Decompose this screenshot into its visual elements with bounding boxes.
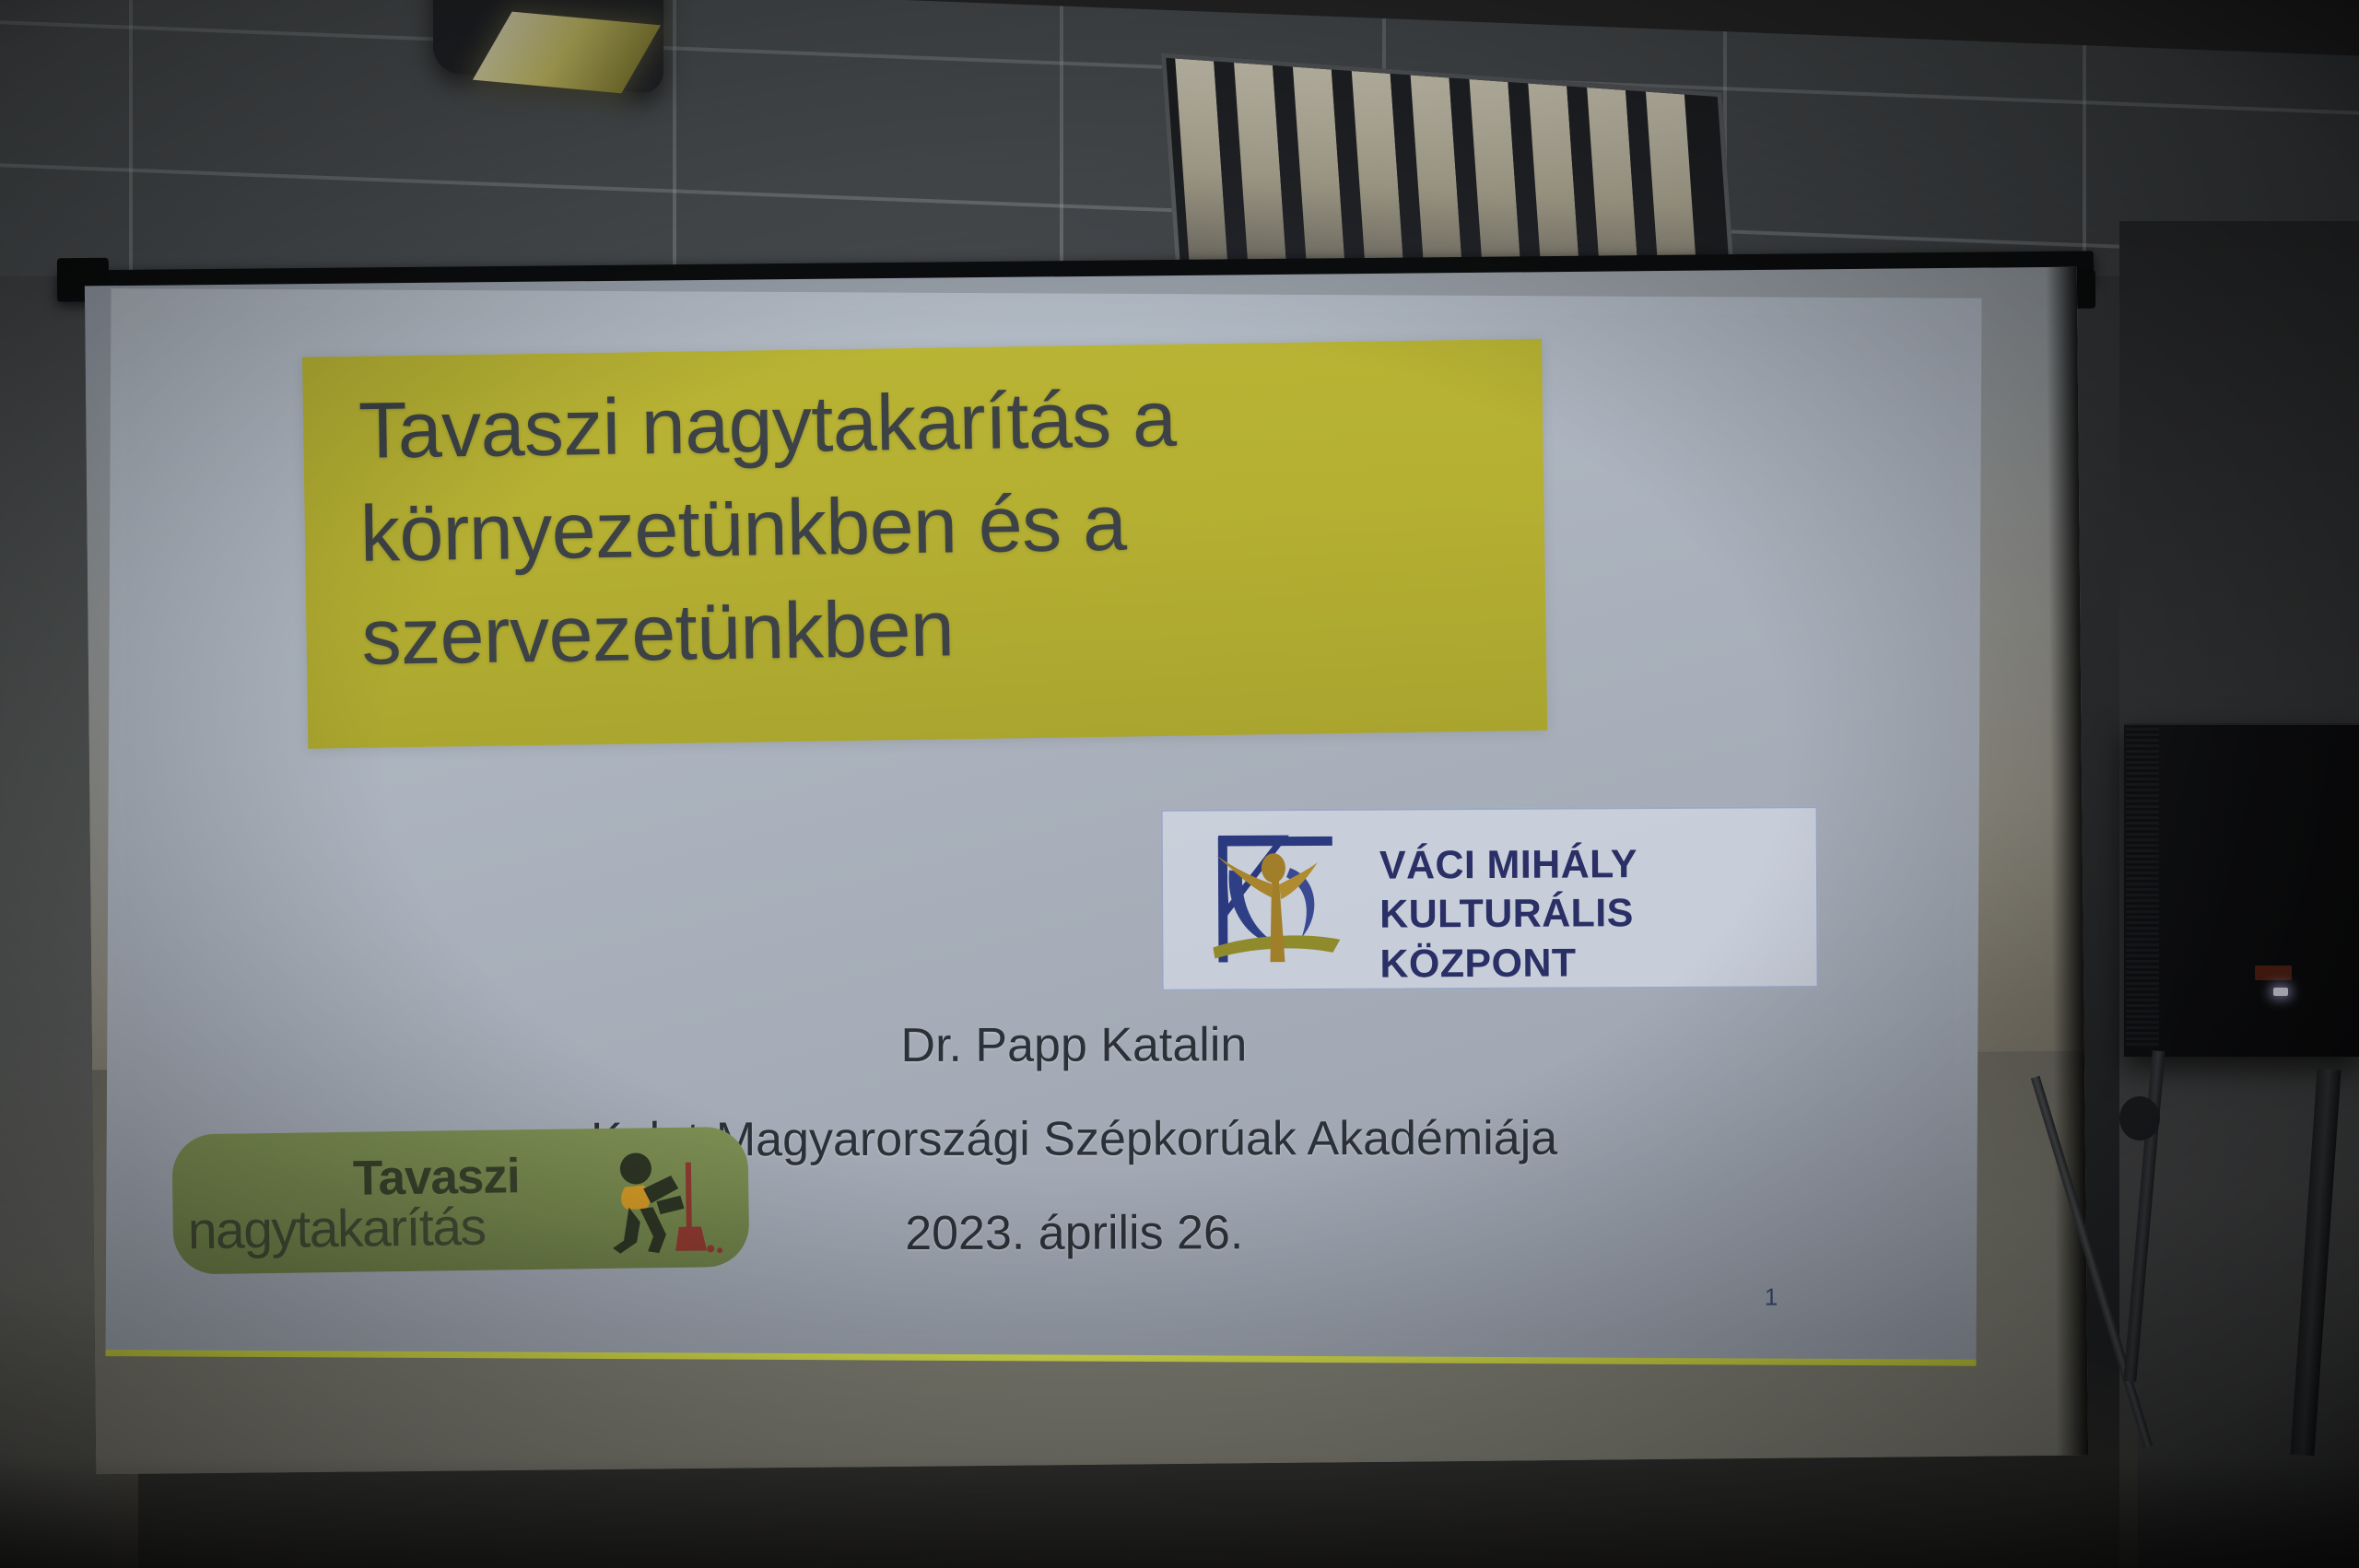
organization-logo-box: VÁCI MIHÁLY KULTURÁLIS KÖZPONT — [1161, 806, 1819, 991]
campaign-badge-word-bottom: nagytakarítás — [187, 1197, 486, 1261]
speaker-power-led-icon — [2273, 988, 2288, 996]
projected-slide: Tavaszi nagytakarítás a környezetünkben … — [106, 288, 1982, 1363]
campaign-badge: Tavaszi nagytakarítás — [171, 1127, 749, 1275]
screenshot-root: Tavaszi nagytakarítás a környezetünkben … — [0, 0, 2359, 1568]
vaci-mihaly-sprout-figure-logo-icon — [1194, 824, 1361, 977]
screen-surface: Tavaszi nagytakarítás a környezetünkben … — [85, 267, 2088, 1475]
organization-name-line-2: KULTURÁLIS KÖZPONT — [1379, 889, 1804, 989]
projection-screen: Tavaszi nagytakarítás a környezetünkben … — [85, 267, 2088, 1475]
person-sweeping-broom-icon — [592, 1143, 732, 1260]
title-line-2: környezetünkben és a — [359, 466, 1495, 586]
speaker-grille — [2126, 728, 2159, 1048]
slide-title: Tavaszi nagytakarítás a környezetünkben … — [358, 364, 1496, 690]
pa-speaker — [2124, 723, 2359, 1057]
author-name: Dr. Papp Katalin — [410, 1020, 1737, 1071]
slide-title-banner: Tavaszi nagytakarítás a környezetünkben … — [302, 339, 1547, 749]
floor-shadow — [0, 1457, 2359, 1568]
title-line-3: szervezetünkben — [361, 569, 1496, 689]
speaker-brand-label — [2255, 965, 2292, 980]
slide-number: 1 — [1765, 1283, 1778, 1312]
organization-name-line-1: VÁCI MIHÁLY — [1379, 839, 1803, 891]
organization-name: VÁCI MIHÁLY KULTURÁLIS KÖZPONT — [1379, 839, 1804, 989]
title-line-1: Tavaszi nagytakarítás a — [358, 364, 1493, 484]
speaker-stand-knob — [2119, 1096, 2160, 1141]
